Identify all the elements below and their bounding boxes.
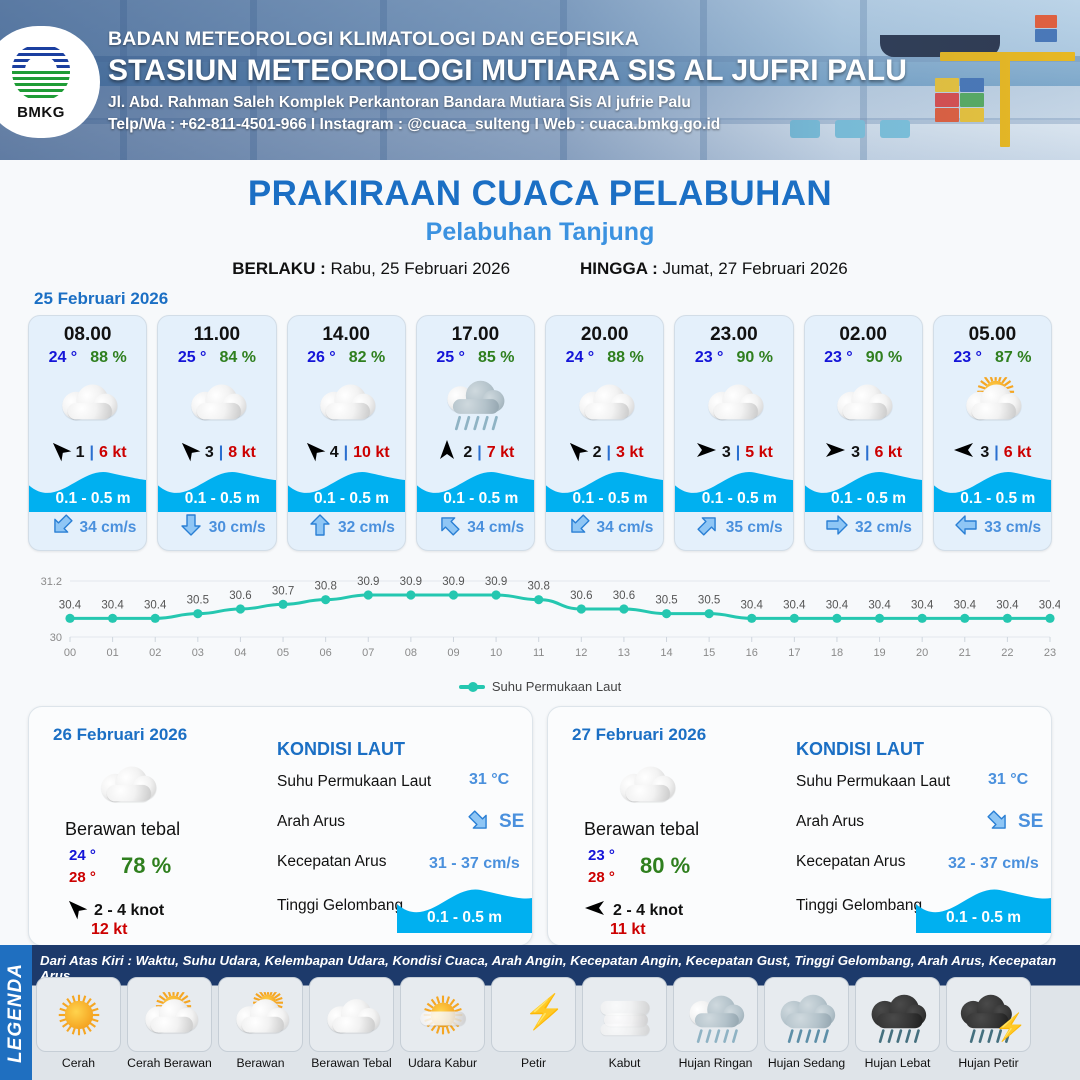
card-wind-arrow-slot (436, 439, 458, 466)
daily-wave-value: 0.1 - 0.5 m (397, 909, 532, 927)
sun-icon (64, 1000, 92, 1028)
daily-gust: 11 kt (610, 921, 646, 939)
current-direction-icon (179, 513, 203, 537)
card-time: 05.00 (934, 324, 1051, 346)
haze-band (420, 1011, 466, 1025)
wind-direction-icon (173, 434, 204, 465)
card-wind-direction: 3 (980, 444, 989, 462)
legend-section: LEGENDA Dari Atas Kiri : Waktu, Suhu Uda… (0, 945, 1080, 1080)
legend-tile (218, 977, 303, 1052)
wind-direction-icon (695, 439, 717, 461)
card-wind-arrow-slot (303, 439, 325, 466)
berawan-tebal-icon (572, 377, 638, 425)
rain-drop (787, 1028, 793, 1042)
chart-point-label: 30.4 (59, 599, 82, 611)
legend-item[interactable]: Kabut (582, 977, 667, 1070)
daily-sst-value: 31 °C (988, 771, 1028, 789)
card-wind: 2|7 kt (417, 439, 534, 466)
card-current: 34 cm/s (546, 513, 664, 542)
card-wind-separator: | (344, 444, 348, 462)
card-current: 34 cm/s (417, 513, 535, 542)
rain-drop (705, 1028, 711, 1042)
chart-point (65, 614, 74, 623)
daily-temp-min: 23 ° (588, 847, 615, 864)
chart-point (875, 614, 884, 623)
card-weather-icon-slot (546, 373, 663, 429)
chart-point-label: 30.8 (528, 581, 550, 593)
card-wind-direction: 2 (463, 444, 472, 462)
card-wind-speed: 7 kt (487, 444, 515, 462)
card-current: 34 cm/s (29, 513, 147, 542)
berawan-tebal-icon (94, 759, 160, 807)
card-temperature: 25 ° (178, 349, 207, 367)
hourly-card[interactable]: 20.0024 °88 %2|3 kt0.1 - 0.5 m34 cm/s (545, 315, 664, 551)
card-values: 23 °90 % (675, 349, 792, 367)
chart-line (70, 595, 1050, 618)
rain-drop (492, 416, 499, 431)
chart-point (662, 609, 671, 618)
card-weather-icon-slot (675, 373, 792, 429)
hujan-ringan-icon (442, 377, 508, 425)
legend-tile (855, 977, 940, 1052)
chart-point-label: 30.4 (144, 599, 167, 611)
chart-x-tick: 00 (64, 647, 76, 659)
card-current: 33 cm/s (934, 513, 1052, 542)
chart-x-tick: 13 (618, 647, 630, 659)
legend-item[interactable]: Cerah (36, 977, 121, 1070)
chart-x-tick: 08 (405, 647, 417, 659)
cloud-base (332, 1016, 374, 1032)
hourly-forecast-row: 08.0024 °88 %1|6 kt0.1 - 0.5 m34 cm/s11.… (0, 315, 1080, 551)
rain-drop (722, 1028, 728, 1042)
current-direction-icon (691, 508, 725, 542)
card-wind-arrow-slot (953, 439, 975, 466)
daily-weather-icon-slot (91, 757, 163, 809)
card-current-arrow-slot (696, 513, 720, 542)
chart-point-label: 30.4 (996, 599, 1019, 611)
card-humidity: 85 % (478, 349, 514, 367)
daily-current-arrow-slot (986, 809, 1010, 838)
card-current-speed: 33 cm/s (984, 519, 1041, 537)
legend-label: Hujan Petir (946, 1056, 1031, 1070)
hujan-lebat-icon (866, 992, 929, 1038)
validity-row: BERLAKU : Rabu, 25 Februari 2026 HINGGA … (0, 259, 1080, 279)
legend-tile (127, 977, 212, 1052)
sst-chart-svg: 31.2300001020304050607080910111213141516… (20, 567, 1060, 677)
legend-tile: ⚡ (491, 977, 576, 1052)
daily-wave-pill: 0.1 - 0.5 m (397, 883, 532, 933)
legend-label: Cerah Berawan (127, 1056, 212, 1070)
chart-point-label: 30.6 (229, 590, 251, 602)
chart-x-tick: 04 (234, 647, 246, 659)
berawan-tebal-icon (613, 759, 679, 807)
legend-tile (764, 977, 849, 1052)
chart-x-tick: 07 (362, 647, 374, 659)
chart-point (534, 595, 543, 604)
card-temperature: 23 ° (953, 349, 982, 367)
hourly-card[interactable]: 08.0024 °88 %1|6 kt0.1 - 0.5 m34 cm/s (28, 315, 147, 551)
legend-label: Berawan (218, 1056, 303, 1070)
daily-date: 26 Februari 2026 (53, 725, 187, 745)
card-wind: 4|10 kt (288, 439, 405, 466)
daily-current-dir-label: Arah Arus (796, 813, 864, 831)
chart-x-tick: 05 (277, 647, 289, 659)
berawan-icon (229, 992, 292, 1038)
berawan-tebal-icon (701, 377, 767, 425)
legend-label: Hujan Sedang (764, 1056, 849, 1070)
valid-until-value: Jumat, 27 Februari 2026 (663, 259, 848, 278)
daily-condition: Berawan tebal (584, 819, 699, 840)
card-wind-speed: 10 kt (353, 444, 389, 462)
chart-point-label: 30.5 (698, 595, 720, 607)
valid-from-value: Rabu, 25 Februari 2026 (330, 259, 510, 278)
chart-point-label: 30.5 (187, 595, 209, 607)
hourly-card[interactable]: 05.0023 °87 %3|6 kt0.1 - 0.5 m33 cm/s (933, 315, 1052, 551)
card-current: 32 cm/s (288, 513, 406, 542)
berawan-tebal-icon (184, 377, 250, 425)
legend-tile (36, 977, 121, 1052)
chart-x-tick: 09 (447, 647, 459, 659)
card-wind-speed: 8 kt (228, 444, 256, 462)
chart-point-label: 30.4 (783, 599, 806, 611)
legend-tile (400, 977, 485, 1052)
daily-forecast-card[interactable]: 27 Februari 2026Berawan tebal23 °28 °80 … (547, 706, 1052, 946)
card-wind: 3|6 kt (934, 439, 1051, 466)
card-values: 23 °90 % (805, 349, 922, 367)
rain-drop (483, 416, 490, 431)
cloud-base (326, 403, 370, 420)
card-values: 24 °88 % (29, 349, 146, 367)
card-wave-height: 0.1 - 0.5 m (934, 490, 1052, 508)
rain-drop (978, 1028, 984, 1042)
chart-point-label: 30.5 (655, 595, 677, 607)
cerah-berawan-icon (138, 992, 201, 1038)
valid-from-label: BERLAKU : (232, 259, 326, 278)
rain-drop (455, 416, 462, 431)
bmkg-logo-text: BMKG (17, 104, 65, 121)
cerah-icon (47, 992, 110, 1038)
daily-forecast-card[interactable]: 26 Februari 2026Berawan tebal24 °28 °78 … (28, 706, 533, 946)
legend-item[interactable]: Cerah Berawan (127, 977, 212, 1070)
card-time: 23.00 (675, 324, 792, 346)
card-values: 23 °87 % (934, 349, 1051, 367)
card-wind-arrow-slot (49, 439, 71, 466)
card-wind-arrow-slot (695, 439, 717, 466)
chart-point (108, 614, 117, 623)
card-wind-separator: | (607, 444, 611, 462)
cloud-base (67, 403, 111, 420)
card-wave-height: 0.1 - 0.5 m (805, 490, 923, 508)
legend-items: CerahCerah BerawanBerawanBerawan TebalUd… (36, 977, 1076, 1070)
card-weather-icon-slot (29, 373, 146, 429)
chart-point (278, 600, 287, 609)
card-wind: 2|3 kt (546, 439, 663, 466)
chart-x-tick: 17 (788, 647, 800, 659)
card-current-arrow-slot (179, 513, 203, 542)
legend-item[interactable]: ⚡Petir (491, 977, 576, 1070)
card-wave-height: 0.1 - 0.5 m (675, 490, 793, 508)
rain-drop (904, 1028, 910, 1042)
card-time: 02.00 (805, 324, 922, 346)
cloud-base (150, 1016, 192, 1032)
card-weather-icon-slot (158, 373, 275, 429)
legend-label: Petir (491, 1056, 576, 1070)
daily-wind-value: 2 - 4 knot (613, 902, 683, 920)
current-direction-icon (981, 804, 1015, 838)
lightning-icon: ⚡ (523, 995, 565, 1028)
card-current-arrow-slot (308, 513, 332, 542)
title-block: PRAKIRAAN CUACA PELABUHAN Pelabuhan Tanj… (0, 160, 1080, 279)
rain-drop (969, 1028, 975, 1042)
wind-direction-icon (824, 439, 846, 461)
rain-drop (473, 416, 480, 431)
wind-direction-icon (584, 897, 606, 919)
daily-wind-value: 2 - 4 knot (94, 902, 164, 920)
chart-point (577, 604, 586, 613)
card-wind-arrow-slot (566, 439, 588, 466)
hujan-ringan-icon (684, 992, 747, 1038)
chart-x-tick: 10 (490, 647, 502, 659)
card-current-speed: 34 cm/s (467, 519, 524, 537)
logo-sky-stripes (12, 45, 70, 70)
daily-current-dir-value: SE (1018, 811, 1043, 833)
daily-gust: 12 kt (91, 921, 127, 939)
rain-drop (464, 416, 471, 431)
card-temperature: 26 ° (307, 349, 336, 367)
card-wind-separator: | (994, 444, 998, 462)
kabut-icon (593, 992, 656, 1038)
valid-from: BERLAKU : Rabu, 25 Februari 2026 (232, 259, 510, 279)
station-contact: Telp/Wa : +62-811-4501-966 I Instagram :… (108, 116, 907, 134)
card-wind-direction: 3 (851, 444, 860, 462)
current-direction-icon (432, 508, 466, 542)
card-current-speed: 32 cm/s (338, 519, 395, 537)
card-time: 17.00 (417, 324, 534, 346)
logo-land-stripes (12, 71, 70, 101)
cloud-base (626, 785, 670, 802)
card-wind: 3|6 kt (805, 439, 922, 466)
card-wind-direction: 2 (593, 444, 602, 462)
hourly-card[interactable]: 02.0023 °90 %3|6 kt0.1 - 0.5 m32 cm/s (804, 315, 923, 551)
chart-point (747, 614, 756, 623)
card-weather-icon-slot (805, 373, 922, 429)
page-header: BMKG BADAN METEOROLOGI KLIMATOLOGI DAN G… (0, 0, 1080, 160)
card-weather-icon-slot (417, 373, 534, 429)
chart-y-tick: 30 (50, 632, 62, 644)
card-time: 14.00 (288, 324, 405, 346)
card-values: 26 °82 % (288, 349, 405, 367)
card-wind-direction: 4 (330, 444, 339, 462)
berawan-tebal-icon (313, 377, 379, 425)
card-time: 20.00 (546, 324, 663, 346)
berawan-tebal-icon (830, 377, 896, 425)
legend-label: Kabut (582, 1056, 667, 1070)
legend-label: Hujan Lebat (855, 1056, 940, 1070)
hourly-date: 25 Februari 2026 (34, 289, 1080, 309)
card-wind: 1|6 kt (29, 439, 146, 466)
card-wave-height: 0.1 - 0.5 m (29, 490, 147, 508)
daily-current-speed-label: Kecepatan Arus (796, 853, 905, 871)
wind-direction-icon (298, 434, 329, 465)
rain-drop (731, 1028, 737, 1042)
current-direction-icon (45, 508, 79, 542)
rain-drop (987, 1028, 993, 1042)
cloud-base (876, 1013, 922, 1028)
current-direction-icon (462, 804, 496, 838)
chart-point (449, 590, 458, 599)
chart-legend-marker (459, 685, 485, 689)
card-weather-icon-slot (288, 373, 405, 429)
card-humidity: 87 % (995, 349, 1031, 367)
cloud-base (843, 403, 887, 420)
chart-y-tick: 31.2 (41, 576, 62, 588)
daily-wave-value: 0.1 - 0.5 m (916, 909, 1051, 927)
daily-forecast-row: 26 Februari 2026Berawan tebal24 °28 °78 … (0, 694, 1080, 946)
berawan-tebal-icon (55, 377, 121, 425)
cloud-base (785, 1013, 831, 1028)
legend-tile (673, 977, 758, 1052)
legend-item[interactable]: Hujan Sedang (764, 977, 849, 1070)
current-direction-icon (308, 513, 332, 537)
card-wind-separator: | (865, 444, 869, 462)
card-humidity: 88 % (607, 349, 643, 367)
rain-drop (822, 1028, 828, 1042)
daily-current-dir-value: SE (499, 811, 524, 833)
chart-point (491, 590, 500, 599)
chart-point-label: 30.4 (911, 599, 934, 611)
chart-x-tick: 06 (320, 647, 332, 659)
daily-wind: 2 - 4 knot (584, 897, 683, 924)
cloud-base (694, 1013, 738, 1027)
daily-sst-label: Suhu Permukaan Laut (796, 773, 950, 791)
chart-x-tick: 16 (746, 647, 758, 659)
chart-x-tick: 20 (916, 647, 928, 659)
chart-legend-label: Suhu Permukaan Laut (492, 679, 621, 694)
legend-label: Hujan Ringan (673, 1056, 758, 1070)
wind-direction-icon (561, 434, 592, 465)
chart-point (364, 590, 373, 599)
hourly-card[interactable]: 23.0023 °90 %3|5 kt0.1 - 0.5 m35 cm/s (674, 315, 793, 551)
rain-drop (813, 1028, 819, 1042)
card-humidity: 90 % (866, 349, 902, 367)
card-current: 32 cm/s (805, 513, 923, 542)
berawan-tebal-icon (320, 992, 383, 1038)
cloud-base (107, 785, 151, 802)
chart-point-label: 30.9 (357, 576, 379, 588)
daily-wind-arrow-slot (65, 897, 87, 924)
cloud-base (714, 403, 758, 420)
cloud-base (453, 399, 499, 414)
chart-point-label: 30.6 (613, 590, 635, 602)
valid-until-label: HINGGA : (580, 259, 658, 278)
daily-current-speed-value: 32 - 37 cm/s (948, 855, 1039, 873)
legend-tile: ⚡ (946, 977, 1031, 1052)
card-wind-speed: 5 kt (745, 444, 773, 462)
card-current: 30 cm/s (158, 513, 276, 542)
chart-point (619, 604, 628, 613)
rain-drop (913, 1028, 919, 1042)
card-time: 11.00 (158, 324, 275, 346)
chart-point-label: 30.4 (868, 599, 891, 611)
cerah-berawan-icon (959, 377, 1025, 425)
cloud-base (584, 403, 628, 420)
chart-x-tick: 11 (533, 647, 544, 659)
page-subtitle: Pelabuhan Tanjung (0, 218, 1080, 247)
card-current-arrow-slot (567, 513, 591, 542)
legend-item[interactable]: Berawan Tebal (309, 977, 394, 1070)
card-values: 25 °85 % (417, 349, 534, 367)
card-temperature: 24 ° (566, 349, 595, 367)
chart-point (832, 614, 841, 623)
header-text-block: BADAN METEOROLOGI KLIMATOLOGI DAN GEOFIS… (108, 28, 907, 134)
daily-date: 27 Februari 2026 (572, 725, 706, 745)
daily-wind-arrow-slot (584, 897, 606, 924)
fog-band (600, 1023, 649, 1034)
hujan-sedang-icon (775, 992, 838, 1038)
daily-current-arrow-slot (467, 809, 491, 838)
sst-chart: 31.2300001020304050607080910111213141516… (20, 567, 1060, 677)
rain-drop (805, 1028, 811, 1042)
card-current-arrow-slot (825, 513, 849, 542)
card-wind-separator: | (219, 444, 223, 462)
chart-point-label: 30.8 (314, 581, 336, 593)
card-humidity: 84 % (219, 349, 255, 367)
chart-point-label: 30.4 (954, 599, 977, 611)
rain-drop (796, 1028, 802, 1042)
chart-point (406, 590, 415, 599)
wind-direction-icon (436, 439, 458, 461)
current-direction-icon (825, 513, 849, 537)
daily-sea-title: KONDISI LAUT (277, 739, 405, 760)
card-wind-separator: | (477, 444, 481, 462)
card-current-speed: 34 cm/s (597, 519, 654, 537)
chart-x-tick: 21 (959, 647, 971, 659)
chart-x-tick: 02 (149, 647, 161, 659)
chart-point-label: 30.9 (485, 576, 507, 588)
legend-item[interactable]: Hujan Lebat (855, 977, 940, 1070)
udara-kabur-icon (411, 992, 474, 1038)
daily-wave-label: Tinggi Gelombang (796, 897, 922, 915)
card-values: 24 °88 % (546, 349, 663, 367)
legend-label: Cerah (36, 1056, 121, 1070)
hourly-card[interactable]: 17.0025 °85 %2|7 kt0.1 - 0.5 m34 cm/s (416, 315, 535, 551)
hujan-petir-icon: ⚡ (957, 992, 1020, 1038)
legend-item[interactable]: Hujan Ringan (673, 977, 758, 1070)
card-temperature: 24 ° (49, 349, 78, 367)
card-wind-direction: 3 (205, 444, 214, 462)
legend-label: Berawan Tebal (309, 1056, 394, 1070)
chart-point-label: 30.4 (741, 599, 764, 611)
daily-weather-icon-slot (610, 757, 682, 809)
chart-x-tick: 14 (660, 647, 672, 659)
cloud-base (241, 1016, 283, 1032)
legend-item[interactable]: ⚡Hujan Petir (946, 977, 1031, 1070)
card-wind-speed: 6 kt (99, 444, 127, 462)
legend-item[interactable]: Berawan (218, 977, 303, 1070)
rain-drop (878, 1028, 884, 1042)
daily-current-speed-label: Kecepatan Arus (277, 853, 386, 871)
card-wind-speed: 3 kt (616, 444, 644, 462)
legend-item[interactable]: Udara Kabur (400, 977, 485, 1070)
hourly-card[interactable]: 11.0025 °84 %3|8 kt0.1 - 0.5 m30 cm/s (157, 315, 276, 551)
chart-point (151, 614, 160, 623)
daily-temp-max: 28 ° (69, 869, 96, 886)
card-wave-height: 0.1 - 0.5 m (288, 490, 406, 508)
card-wind-direction: 1 (76, 444, 85, 462)
daily-condition: Berawan tebal (65, 819, 180, 840)
hourly-card[interactable]: 14.0026 °82 %4|10 kt0.1 - 0.5 m32 cm/s (287, 315, 406, 551)
card-wind-arrow-slot (178, 439, 200, 466)
